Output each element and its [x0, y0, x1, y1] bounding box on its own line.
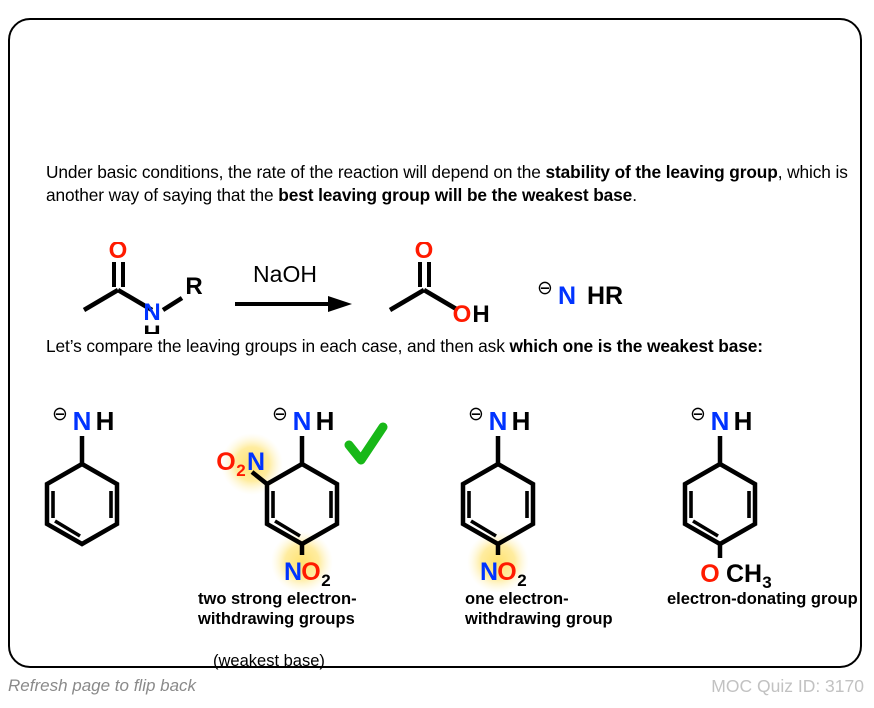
amide-anion-charge-label: ⊖ — [537, 277, 553, 299]
amide-nh-hydrogen-label: H — [143, 321, 160, 334]
explanation-paragraph-1: Under basic conditions, the rate of the … — [46, 161, 851, 207]
reactant-amide: O N H R — [84, 242, 203, 334]
s1-charge-label: ⊖ — [52, 403, 68, 425]
page-footer: Refresh page to flip back MOC Quiz ID: 3… — [0, 676, 874, 708]
structure-nitroanilide-anion: ⊖ N H N O 2 — [463, 403, 533, 592]
reaction-scheme: O N H R NaOH O O H ⊖ N HR — [70, 242, 650, 334]
para1-text-3: . — [632, 185, 637, 205]
s1-nh-hydrogen-label: H — [96, 406, 115, 436]
product-acetic-acid: O O H — [390, 242, 490, 328]
reaction-arrow-group: NaOH — [235, 261, 352, 312]
s3-para-nitrogen-label: N — [480, 558, 498, 586]
checkmark-icon — [349, 427, 383, 460]
s2-nh-hydrogen-label: H — [316, 406, 335, 436]
s1-benzene-ring — [47, 464, 117, 544]
s3-para-oxygen-subscript: 2 — [517, 571, 526, 590]
s2-ortho-oxygen-subscript: 2 — [236, 461, 245, 480]
s4-nitrogen-label: N — [711, 406, 730, 436]
structure-dinitroanilide-anion: ⊖ N H O 2 N N O 2 — [216, 403, 383, 592]
s4-methyl-label: CH — [726, 560, 762, 588]
s2-para-nitrogen-label: N — [284, 558, 302, 586]
s4-benzene-ring — [685, 464, 755, 544]
para1-bold-2: best leaving group will be the weakest b… — [278, 185, 632, 205]
acid-hydroxyl-oxygen-label: O — [453, 301, 472, 328]
s4-charge-label: ⊖ — [690, 403, 706, 425]
s2-para-oxygen-label: O — [301, 558, 320, 586]
amide-anion-rest-label: HR — [587, 282, 623, 310]
product-amide-anion: ⊖ N HR — [537, 277, 623, 310]
reagent-label: NaOH — [253, 261, 317, 287]
subcaption-structure-2: (weakest base) — [213, 652, 423, 671]
acid-carbonyl-oxygen-label: O — [415, 242, 434, 264]
caption-structure-3: one electron-withdrawing group — [465, 590, 635, 630]
structure-anilide-anion: ⊖ N H — [47, 403, 117, 544]
para2-text-1: Let’s compare the leaving groups in each… — [46, 336, 509, 356]
s3-para-oxygen-label: O — [497, 558, 516, 586]
refresh-hint-text: Refresh page to flip back — [8, 676, 196, 696]
structure-methoxyanilide-anion: ⊖ N H O CH 3 — [685, 403, 772, 592]
explanation-paragraph-2: Let’s compare the leaving groups in each… — [46, 335, 851, 358]
acid-hydroxyl-hydrogen-label: H — [472, 301, 489, 328]
caption-structure-4: electron-donating group — [667, 590, 867, 610]
s3-nitrogen-label: N — [489, 406, 508, 436]
caption-structure-2: two strong electron-withdrawing groups — [198, 590, 408, 630]
para1-text-1: Under basic conditions, the rate of the … — [46, 162, 545, 182]
s3-nh-hydrogen-label: H — [512, 406, 531, 436]
s1-nitrogen-label: N — [73, 406, 92, 436]
s2-ortho-nitrogen-label: N — [247, 448, 265, 476]
s4-methoxy-oxygen-label: O — [700, 560, 719, 588]
s2-para-oxygen-subscript: 2 — [321, 571, 330, 590]
quiz-id-text: MOC Quiz ID: 3170 — [711, 676, 864, 697]
structure-comparison-row: ⊖ N H ⊖ N H — [30, 392, 870, 592]
s2-nitrogen-label: N — [293, 406, 312, 436]
amide-r-group-label: R — [185, 273, 202, 300]
quiz-card: Under basic conditions, the rate of the … — [8, 18, 862, 668]
amide-anion-nitrogen-label: N — [558, 282, 576, 310]
arrowhead-icon — [328, 296, 352, 312]
para1-bold-1: stability of the leaving group — [545, 162, 777, 182]
s2-ortho-oxygen-label: O — [216, 448, 235, 476]
s4-nh-hydrogen-label: H — [734, 406, 753, 436]
para2-bold-1: which one is the weakest base: — [509, 336, 762, 356]
s2-charge-label: ⊖ — [272, 403, 288, 425]
amide-oxygen-label: O — [109, 242, 128, 264]
s3-charge-label: ⊖ — [468, 403, 484, 425]
